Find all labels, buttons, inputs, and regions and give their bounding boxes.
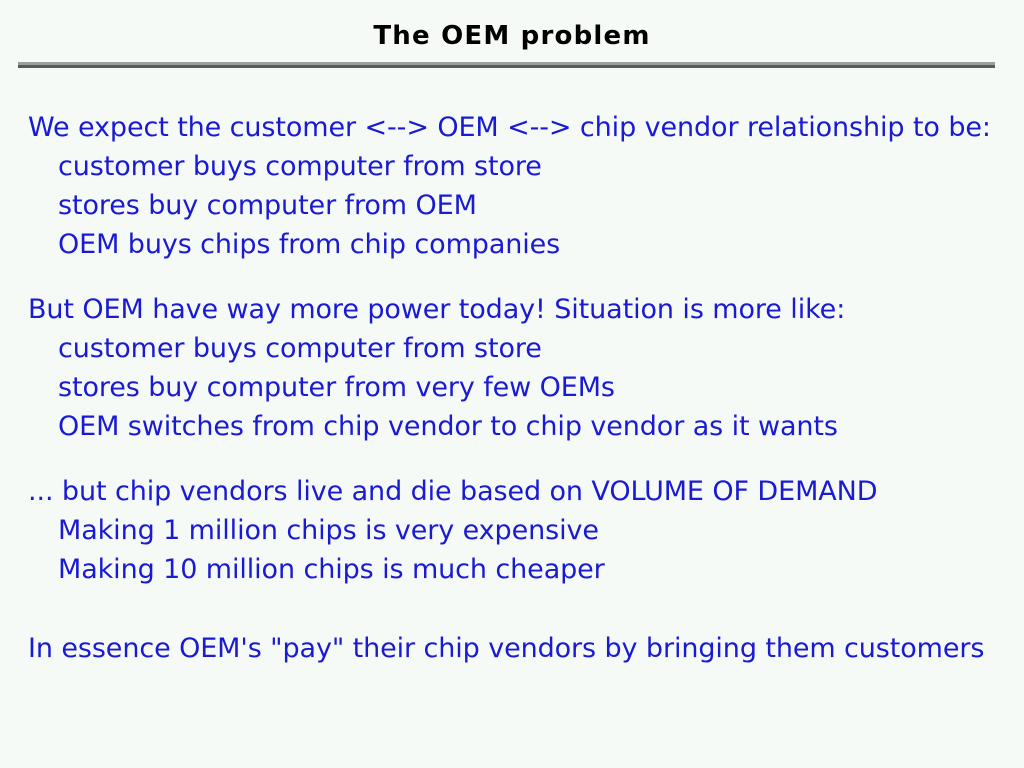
slide-canvas: The OEM problem We expect the customer <… bbox=[0, 0, 1024, 768]
bullet-line: OEM buys chips from chip companies bbox=[0, 225, 1024, 264]
block-heading: We expect the customer <--> OEM <--> chi… bbox=[0, 108, 1024, 147]
bullet-line: stores buy computer from OEM bbox=[0, 186, 1024, 225]
content-block-conclusion: In essence OEM's "pay" their chip vendor… bbox=[0, 629, 1024, 668]
title-divider bbox=[18, 62, 995, 68]
content-block-reality: But OEM have way more power today! Situa… bbox=[0, 290, 1024, 446]
bullet-line: OEM switches from chip vendor to chip ve… bbox=[0, 407, 1024, 446]
slide-body: We expect the customer <--> OEM <--> chi… bbox=[0, 108, 1024, 668]
bullet-line: Making 10 million chips is much cheaper bbox=[0, 550, 1024, 589]
bullet-line: customer buys computer from store bbox=[0, 147, 1024, 186]
content-block-volume: ... but chip vendors live and die based … bbox=[0, 472, 1024, 589]
block-heading: In essence OEM's "pay" their chip vendor… bbox=[0, 629, 1024, 668]
block-heading: ... but chip vendors live and die based … bbox=[0, 472, 1024, 511]
bullet-line: stores buy computer from very few OEMs bbox=[0, 368, 1024, 407]
block-heading: But OEM have way more power today! Situa… bbox=[0, 290, 1024, 329]
bullet-line: customer buys computer from store bbox=[0, 329, 1024, 368]
page-title: The OEM problem bbox=[0, 20, 1024, 52]
content-block-expectation: We expect the customer <--> OEM <--> chi… bbox=[0, 108, 1024, 264]
block-spacer bbox=[0, 615, 1024, 629]
bullet-line: Making 1 million chips is very expensive bbox=[0, 511, 1024, 550]
